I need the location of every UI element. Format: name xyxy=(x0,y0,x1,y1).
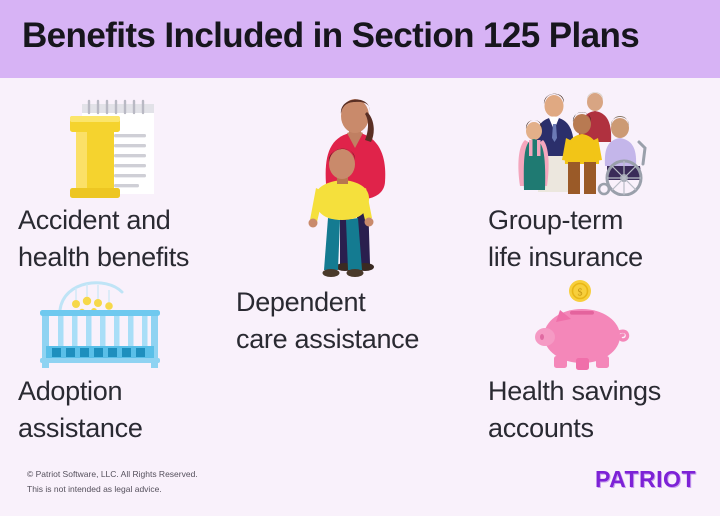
benefit-label: Dependent care assistance xyxy=(236,284,492,358)
parent-and-child-icon xyxy=(296,92,416,280)
footer: © Patriot Software, LLC. All Rights Rese… xyxy=(0,458,720,516)
disclaimer-line: This is not intended as legal advice. xyxy=(27,482,198,497)
infographic-canvas: Benefits Included in Section 125 Plans xyxy=(0,0,720,516)
benefit-health-savings-accounts: Health savings accounts xyxy=(488,373,718,447)
benefit-label: Accident and health benefits xyxy=(18,202,268,276)
page-title: Benefits Included in Section 125 Plans xyxy=(22,16,702,56)
benefit-label: Group-term life insurance xyxy=(488,202,718,276)
header-band: Benefits Included in Section 125 Plans xyxy=(0,0,720,78)
patriot-logo: PATRIOT xyxy=(595,466,696,493)
benefit-group-term-life-insurance: Group-term life insurance xyxy=(488,202,718,276)
benefit-accident-and-health-benefits: Accident and health benefits xyxy=(18,202,268,276)
family-group-icon xyxy=(512,86,652,196)
benefit-dependent-care-assistance: Dependent care assistance xyxy=(236,284,492,358)
benefit-adoption-assistance: Adoption assistance xyxy=(18,373,268,447)
copyright-line: © Patriot Software, LLC. All Rights Rese… xyxy=(27,467,198,482)
benefit-label: Adoption assistance xyxy=(18,373,268,447)
footer-legal-text: © Patriot Software, LLC. All Rights Rese… xyxy=(27,467,198,497)
baby-crib-icon xyxy=(34,276,166,368)
pill-bottle-icon xyxy=(48,96,168,202)
svg-text:$: $ xyxy=(578,288,583,299)
piggy-bank-icon: $ xyxy=(524,280,648,374)
benefit-label: Health savings accounts xyxy=(488,373,718,447)
